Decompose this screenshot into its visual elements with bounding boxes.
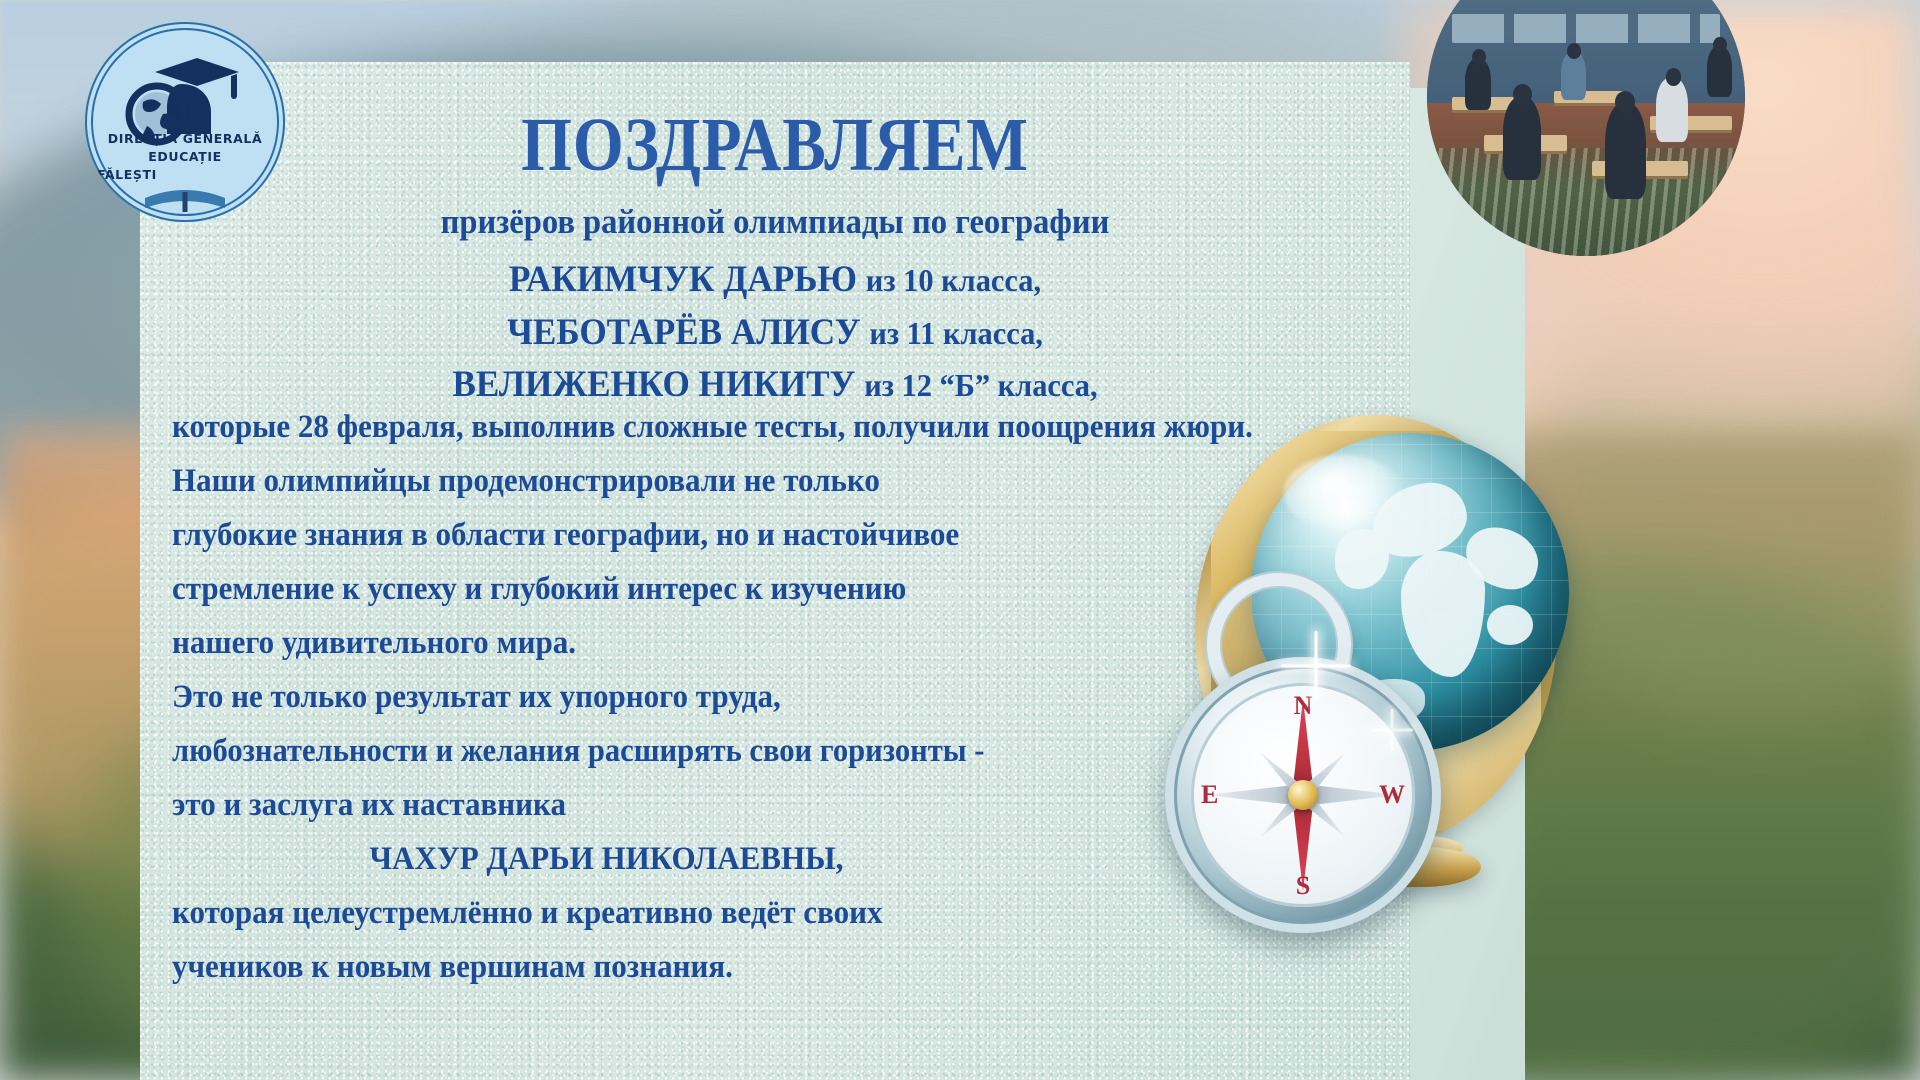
honoree-list: РАКИМЧУК ДАРЬЮ из 10 класса, ЧЕБОТАРЁВ А… <box>140 254 1410 412</box>
honoree-class: из 11 класса, <box>869 315 1043 351</box>
photo-student-head <box>1615 91 1636 113</box>
body-line: глубокие знания в области географии, но … <box>172 508 1317 562</box>
photo-wall-boards <box>1452 14 1719 43</box>
page-title: ПОЗДРАВЛЯЕМ <box>229 102 1321 189</box>
globe-landmass <box>1487 605 1533 645</box>
body-line: стремление к успеху и глубокий интерес к… <box>172 562 1317 616</box>
body-line: Наши олимпийцы продемонстрировали не тол… <box>172 454 1317 508</box>
body-line: которые 28 февраля, выполнив сложные тес… <box>172 400 1317 454</box>
photo-student <box>1503 97 1541 180</box>
honoree-class: из 12 “Б” класса, <box>864 367 1097 403</box>
photo-student-head <box>1567 43 1581 59</box>
closing-line: учеников к новым вершинам познания. <box>172 940 1317 994</box>
poster-content: ПОЗДРАВЛЯЕМ призёров районной олимпиады … <box>140 62 1410 1080</box>
body-line: это и заслуга их наставника <box>172 778 1317 832</box>
body-line: любознательности и желания расширять сво… <box>172 724 1317 778</box>
body-line: Это не только результат их упорного труд… <box>172 670 1317 724</box>
photo-floor-texture <box>1427 148 1745 256</box>
photo-student-head <box>1666 68 1682 85</box>
honoree-row: РАКИМЧУК ДАРЬЮ из 10 класса, <box>172 254 1379 307</box>
photo-student-head <box>1513 84 1532 105</box>
mentor-name: ЧАХУР ДАРЬИ НИКОЛАЕВНЫ, <box>172 832 1317 886</box>
body-line: нашего удивительного мира. <box>172 616 1317 670</box>
honoree-class: из 10 класса, <box>866 262 1041 298</box>
photo-student-head <box>1472 49 1486 65</box>
photo-student <box>1561 52 1586 100</box>
photo-student <box>1605 103 1646 198</box>
poster-subtitle: призёров районной олимпиады по географии <box>184 202 1365 242</box>
honoree-name: РАКИМЧУК ДАРЬЮ <box>509 259 857 300</box>
classroom-photo <box>1427 0 1745 256</box>
photo-student <box>1465 59 1490 110</box>
honoree-row: ЧЕБОТАРЁВ АЛИСУ из 11 класса, <box>172 307 1379 360</box>
poster-body: которые 28 февраля, выполнив сложные тес… <box>172 400 1317 994</box>
photo-student <box>1656 78 1688 142</box>
photo-student <box>1707 46 1732 97</box>
honoree-name: ЧЕБОТАРЁВ АЛИСУ <box>507 312 860 353</box>
honoree-name: ВЕЛИЖЕНКО НИКИТУ <box>452 364 855 405</box>
closing-line: которая целеустремлённо и креативно ведё… <box>172 886 1317 940</box>
